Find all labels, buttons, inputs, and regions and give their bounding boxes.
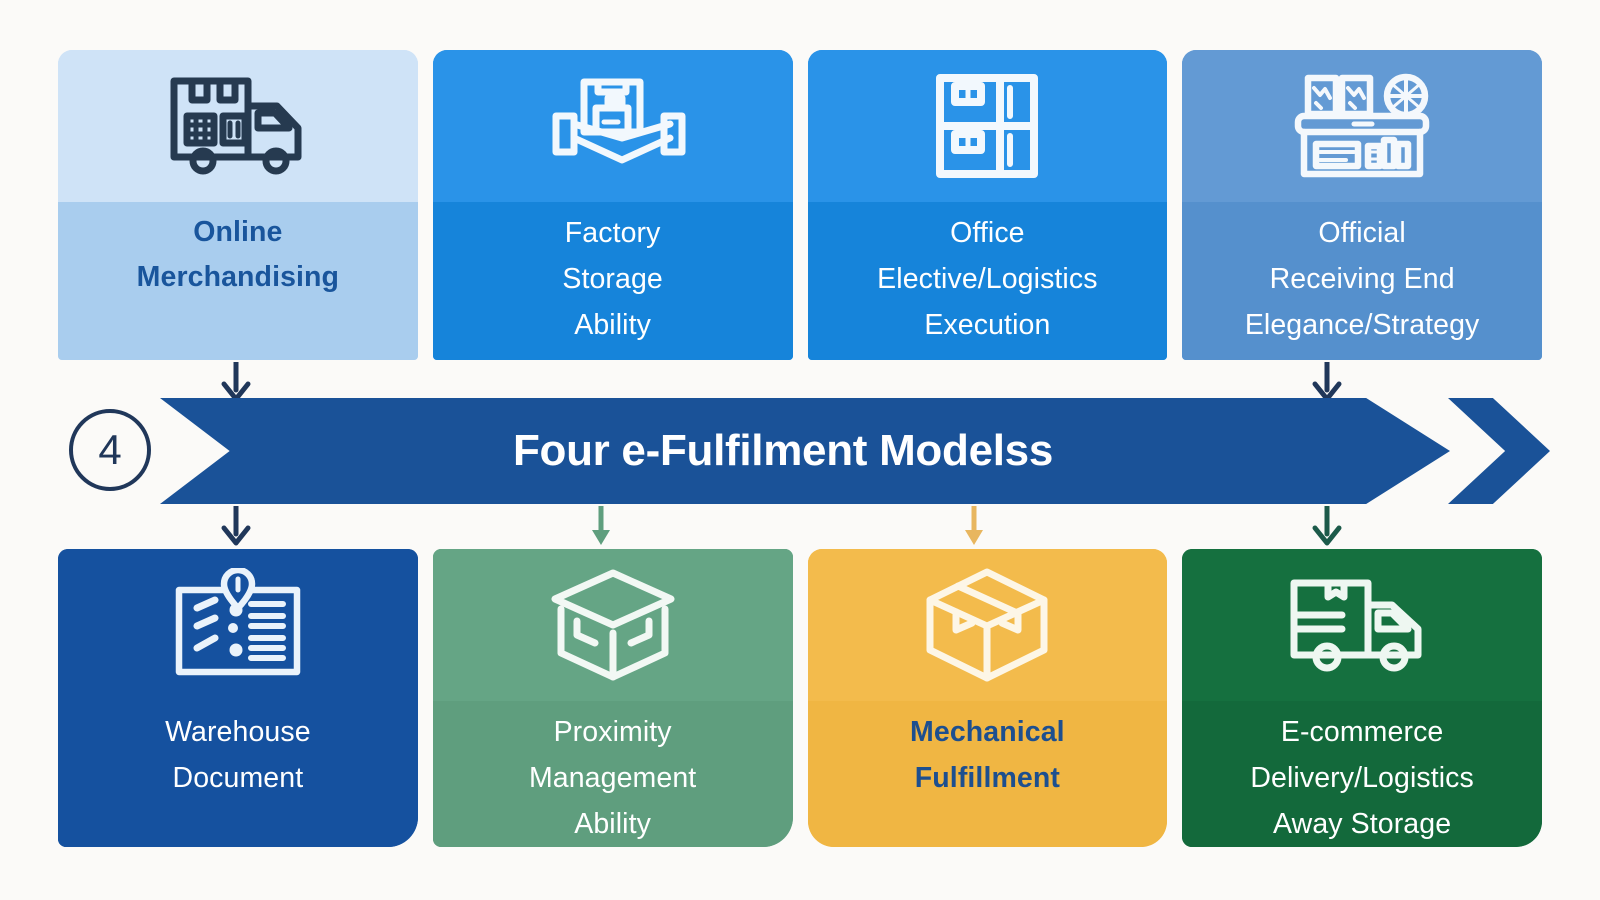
- card-label-mechanical-fulfillment: Mechanical Fulfillment: [808, 701, 1168, 847]
- arrow-down-icon: [957, 506, 991, 546]
- delivery-truck-icon: [1182, 549, 1542, 701]
- card-office-elective[interactable]: Office Elective/Logistics Execution: [808, 50, 1168, 360]
- card-label-factory-storage: Factory Storage Ability: [433, 202, 793, 360]
- storefront-icon: [1182, 50, 1542, 202]
- card-mechanical-fulfillment[interactable]: Mechanical Fulfillment: [808, 549, 1168, 847]
- arrow-down-icon: [1310, 506, 1344, 546]
- open-box-icon: [433, 549, 793, 701]
- box-truck-icon: [58, 50, 418, 202]
- bottom-card-row: Warehouse Document Proximity Management …: [58, 549, 1542, 847]
- diagram-canvas: Online Merchandising Factory Storage Abi…: [0, 0, 1600, 900]
- card-label-proximity-management: Proximity Management Ability: [433, 701, 793, 847]
- card-label-office-elective: Office Elective/Logistics Execution: [808, 202, 1168, 360]
- card-proximity-management[interactable]: Proximity Management Ability: [433, 549, 793, 847]
- card-official-receiving[interactable]: Official Receiving End Elegance/Strategy: [1182, 50, 1542, 360]
- card-factory-storage[interactable]: Factory Storage Ability: [433, 50, 793, 360]
- warehouse-racking-icon: [808, 50, 1168, 202]
- arrow-down-icon: [219, 506, 253, 546]
- map-document-pin-icon: [58, 549, 418, 701]
- arrow-down-icon: [219, 362, 253, 402]
- banner-chevron-icon: [1448, 398, 1550, 504]
- step-number-label: 4: [98, 429, 121, 471]
- arrow-down-icon: [584, 506, 618, 546]
- closed-box-icon: [808, 549, 1168, 701]
- card-label-warehouse-document: Warehouse Document: [58, 701, 418, 847]
- top-card-row: Online Merchandising Factory Storage Abi…: [58, 50, 1542, 360]
- banner-title: Four e-Fulfilment Modelss: [513, 426, 1053, 476]
- arrow-down-icon: [1310, 362, 1344, 402]
- banner-arrow-shape: Four e-Fulfilment Modelss: [160, 398, 1450, 504]
- card-label-online-merchandising: Online Merchandising: [58, 202, 418, 360]
- card-online-merchandising[interactable]: Online Merchandising: [58, 50, 418, 360]
- card-label-official-receiving: Official Receiving End Elegance/Strategy: [1182, 202, 1542, 360]
- pallet-jack-icon: [433, 50, 793, 202]
- banner: Four e-Fulfilment Modelss: [160, 398, 1550, 504]
- step-number-badge: 4: [69, 409, 151, 491]
- card-label-ecommerce-delivery: E-commerce Delivery/Logistics Away Stora…: [1182, 701, 1542, 847]
- card-ecommerce-delivery[interactable]: E-commerce Delivery/Logistics Away Stora…: [1182, 549, 1542, 847]
- card-warehouse-document[interactable]: Warehouse Document: [58, 549, 418, 847]
